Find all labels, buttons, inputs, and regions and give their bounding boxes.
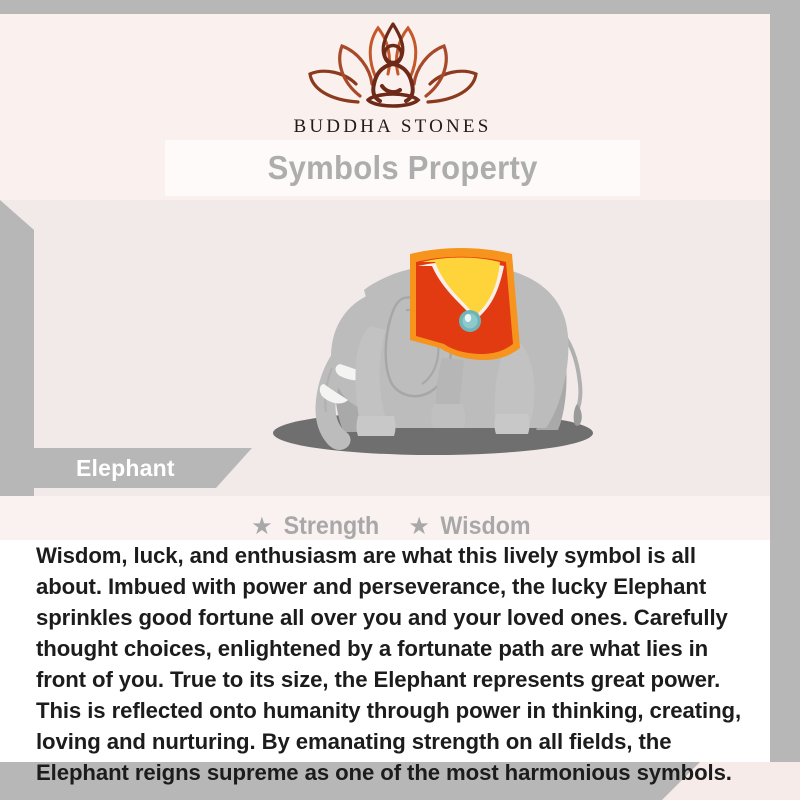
brand-name: BUDDHA STONES: [293, 116, 491, 138]
attribute-list: ★ Strength ★ Wisdom: [0, 512, 785, 541]
attribute-item-strength: ★ Strength: [251, 512, 382, 541]
star-icon: ★: [251, 515, 273, 539]
attribute-label-wisdom: Wisdom: [440, 512, 530, 541]
brand-logo: BUDDHA STONES: [0, 16, 785, 138]
page-title-band: Symbols Property: [165, 140, 640, 196]
elephant-illustration-icon: [228, 218, 628, 493]
page-title: Symbols Property: [268, 149, 538, 187]
attribute-item-wisdom: ★ Wisdom: [408, 512, 534, 541]
symbol-description: Wisdom, luck, and enthusiasm are what th…: [36, 540, 761, 788]
attribute-label-strength: Strength: [283, 512, 379, 541]
symbol-property-card: BUDDHA STONES Symbols Property: [0, 0, 800, 800]
symbol-name: Elephant: [76, 455, 175, 482]
lotus-meditation-logo-icon: [298, 16, 488, 112]
symbol-name-banner: Elephant: [0, 448, 252, 488]
star-icon: ★: [408, 515, 430, 539]
